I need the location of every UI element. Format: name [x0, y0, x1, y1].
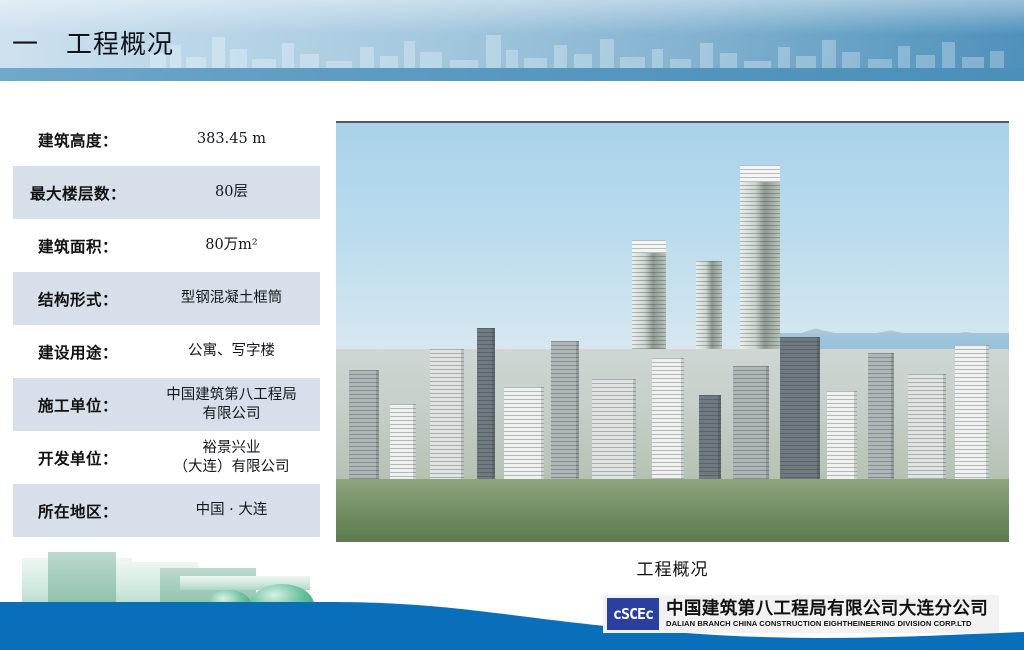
photo-building [955, 345, 989, 479]
company-name-en: DALIAN BRANCH CHINA CONSTRUCTION EIGHTHE… [666, 620, 988, 628]
table-row: 所在地区： 中国 · 大连 [13, 484, 320, 537]
row-label: 建筑面积： [13, 219, 143, 272]
page-title: 一 工程概况 [12, 24, 174, 61]
photo-green-belt [336, 479, 1009, 542]
row-value: 型钢混凝土框筒 [143, 272, 320, 325]
row-value: 80万m² [143, 219, 320, 272]
slide-canvas: 一 工程概况 建筑高度： 383.45 m 最大楼层数： 80层 建筑面积： 8… [0, 0, 1024, 650]
photo-building [551, 341, 579, 479]
photo-caption: 工程概况 [336, 555, 1009, 580]
row-label: 建设用途： [13, 325, 143, 378]
row-value: 中国建筑第八工程局 有限公司 [143, 378, 320, 431]
row-label: 最大楼层数： [13, 166, 143, 219]
photo-building [504, 387, 544, 479]
row-label: 结构形式： [13, 272, 143, 325]
project-spec-table: 建筑高度： 383.45 m 最大楼层数： 80层 建筑面积： 80万m² 结构… [13, 113, 320, 537]
table-row: 建设用途： 公寓、写字楼 [13, 325, 320, 378]
photo-building [477, 328, 495, 479]
photo-building [592, 379, 636, 480]
photo-building [827, 391, 857, 479]
dalian-skyline-photo [336, 121, 1009, 542]
photo-building [652, 358, 684, 480]
photo-building [908, 374, 946, 479]
row-value: 中国 · 大连 [143, 484, 320, 537]
photo-building [390, 404, 416, 479]
table-row: 结构形式： 型钢混凝土框筒 [13, 272, 320, 325]
row-value: 裕景兴业 （大连）有限公司 [143, 431, 320, 484]
photo-building [780, 337, 820, 479]
row-label: 施工单位： [13, 378, 143, 431]
photo-building [699, 395, 721, 479]
photo-building [349, 370, 379, 479]
row-label: 开发单位： [13, 431, 143, 484]
company-logo-block: cSCEc 中国建筑第八工程局有限公司大连分公司 DALIAN BRANCH C… [603, 595, 999, 633]
photo-building [430, 349, 464, 479]
table-row: 开发单位： 裕景兴业 （大连）有限公司 [13, 431, 320, 484]
row-value: 公寓、写字楼 [143, 325, 320, 378]
slide-header: 一 工程概况 [0, 0, 1024, 81]
cscec-logo-icon: cSCEc [607, 598, 659, 630]
header-accent-band [0, 68, 1024, 81]
company-name-cn: 中国建筑第八工程局有限公司大连分公司 [666, 600, 988, 618]
table-row: 施工单位： 中国建筑第八工程局 有限公司 [13, 378, 320, 431]
row-value: 383.45 m [143, 113, 320, 166]
table-row: 建筑面积： 80万m² [13, 219, 320, 272]
row-value: 80层 [143, 166, 320, 219]
table-row: 建筑高度： 383.45 m [13, 113, 320, 166]
row-label: 所在地区： [13, 484, 143, 537]
row-label: 建筑高度： [13, 113, 143, 166]
photo-building [733, 366, 769, 479]
table-row: 最大楼层数： 80层 [13, 166, 320, 219]
photo-building [868, 353, 894, 479]
